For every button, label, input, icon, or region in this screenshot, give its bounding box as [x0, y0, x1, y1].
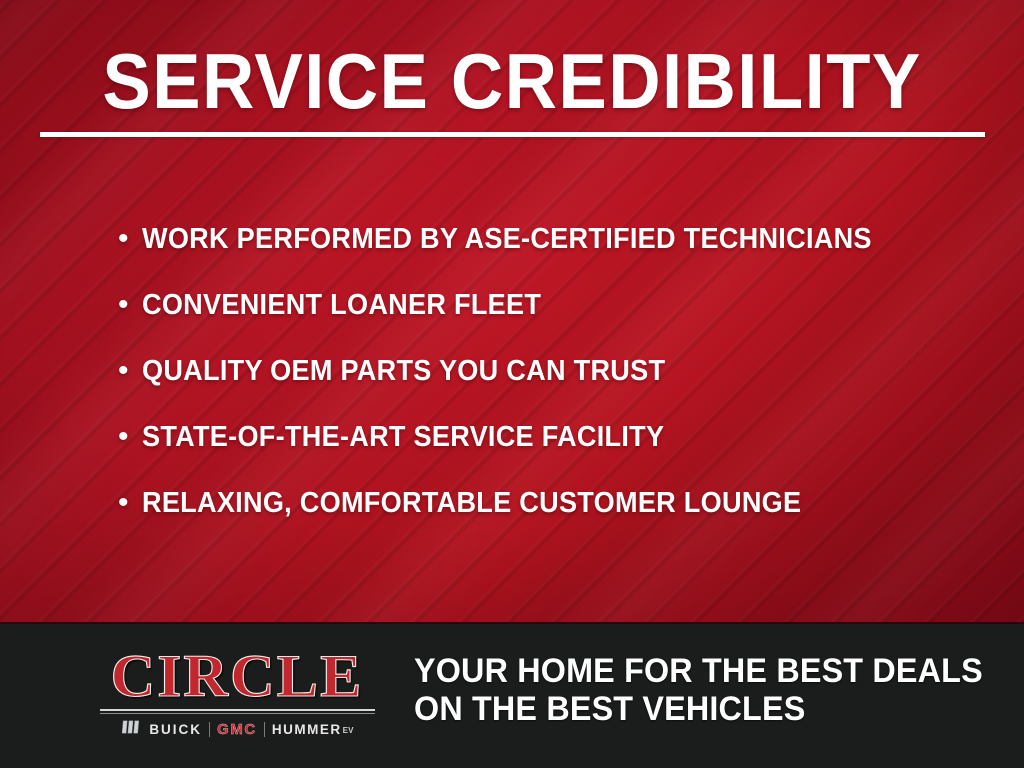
bullet-dot-icon: •	[118, 488, 142, 518]
bullet-dot-icon: •	[118, 356, 142, 386]
slide-content: SERVICE CREDIBILITY • WORK PERFORMED BY …	[0, 0, 1024, 622]
dealer-logo[interactable]: CIRCLE BUICK GMC HUMMER EV	[92, 648, 382, 739]
tagline-line-1: YOUR HOME FOR THE BEST DEALS	[414, 652, 975, 690]
list-item: • QUALITY OEM PARTS YOU CAN TRUST	[118, 354, 998, 420]
logo-rule-thin	[100, 713, 375, 714]
list-item: • WORK PERFORMED BY ASE-CERTIFIED TECHNI…	[118, 222, 998, 288]
title-underline-rule	[40, 132, 985, 137]
dealer-wordmark: CIRCLE	[88, 648, 387, 704]
logo-divider-rules	[100, 709, 375, 714]
brand-separator	[264, 722, 265, 737]
list-item: • CONVENIENT LOANER FLEET	[118, 288, 998, 354]
list-item: • STATE-OF-THE-ART SERVICE FACILITY	[118, 420, 998, 486]
logo-rule-thick	[100, 709, 375, 711]
bullet-dot-icon: •	[118, 224, 142, 254]
bullet-dot-icon: •	[118, 422, 142, 452]
brand-separator	[209, 722, 210, 737]
brand-bar: BUICK GMC HUMMER EV	[98, 720, 376, 739]
brand-label-hummer-group: HUMMER EV	[272, 723, 354, 737]
list-item-label: STATE-OF-THE-ART SERVICE FACILITY	[142, 420, 664, 454]
page-title: SERVICE CREDIBILITY	[36, 36, 988, 126]
footer-tagline: YOUR HOME FOR THE BEST DEALS ON THE BEST…	[414, 652, 975, 728]
buick-tri-shield-icon	[120, 720, 142, 739]
feature-bullet-list: • WORK PERFORMED BY ASE-CERTIFIED TECHNI…	[118, 222, 998, 552]
brand-label-buick: BUICK	[149, 723, 202, 737]
brand-label-hummer-ev-suffix: EV	[343, 726, 354, 737]
list-item-label: WORK PERFORMED BY ASE-CERTIFIED TECHNICI…	[142, 222, 872, 256]
brand-label-gmc: GMC	[217, 722, 257, 737]
list-item-label: QUALITY OEM PARTS YOU CAN TRUST	[142, 354, 665, 388]
tagline-line-2: ON THE BEST VEHICLES	[414, 690, 975, 728]
footer-top-edge	[0, 622, 1024, 624]
list-item-label: RELAXING, COMFORTABLE CUSTOMER LOUNGE	[142, 486, 801, 520]
bullet-dot-icon: •	[118, 290, 142, 320]
list-item: • RELAXING, COMFORTABLE CUSTOMER LOUNGE	[118, 486, 998, 552]
promo-slide: SERVICE CREDIBILITY • WORK PERFORMED BY …	[0, 0, 1024, 768]
brand-label-hummer: HUMMER	[272, 723, 342, 737]
list-item-label: CONVENIENT LOANER FLEET	[142, 288, 541, 322]
